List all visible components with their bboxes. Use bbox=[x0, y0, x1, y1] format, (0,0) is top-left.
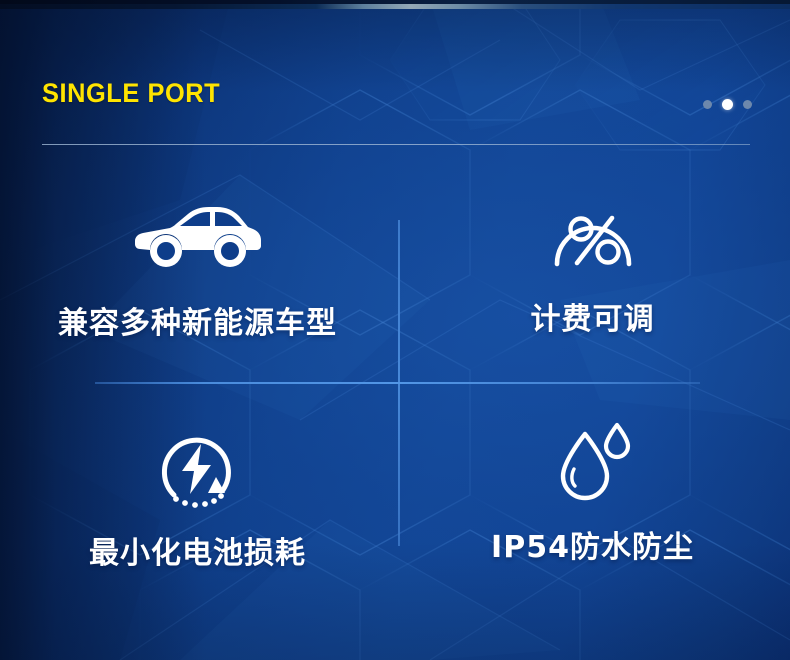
header-divider-rule bbox=[42, 144, 750, 145]
feature-adjustable-billing: 计费可调 bbox=[395, 176, 790, 386]
water-drop-icon-wrap bbox=[553, 412, 633, 508]
feature-label-minimize-battery-loss: 最小化电池损耗 bbox=[89, 528, 306, 572]
feature-label-ip54-protection: IP54防水防尘 bbox=[491, 522, 694, 566]
feature-minimize-battery-loss: 最小化电池损耗 bbox=[0, 386, 395, 596]
battery-charge-cycle-icon-wrap bbox=[154, 420, 242, 516]
feature-grid: 兼容多种新能源车型 计费可调 bbox=[0, 176, 790, 596]
pager-dots[interactable] bbox=[703, 99, 752, 110]
percent-gauge-icon bbox=[550, 193, 636, 271]
feature-label-adjustable-billing: 计费可调 bbox=[531, 294, 655, 338]
feature-label-vehicle-compatibility: 兼容多种新能源车型 bbox=[58, 298, 337, 342]
page-title: SINGLE PORT bbox=[42, 78, 220, 109]
single-port-feature-banner: SINGLE PORT 兼容多种新能源车型 bbox=[0, 0, 790, 660]
feature-ip54-protection: IP54防水防尘 bbox=[395, 386, 790, 596]
percent-gauge-icon-wrap bbox=[550, 184, 636, 280]
water-drop-icon bbox=[553, 417, 633, 503]
page-title-container: SINGLE PORT bbox=[42, 78, 232, 109]
feature-vehicle-compatibility: 兼容多种新能源车型 bbox=[0, 176, 395, 386]
pager-dot-3[interactable] bbox=[743, 100, 752, 109]
pager-dot-2[interactable] bbox=[722, 99, 733, 110]
top-edge-shade bbox=[0, 0, 790, 4]
pager-dot-1[interactable] bbox=[703, 100, 712, 109]
car-icon-wrap bbox=[134, 190, 262, 286]
car-icon bbox=[134, 201, 262, 275]
battery-charge-cycle-icon bbox=[154, 426, 242, 510]
